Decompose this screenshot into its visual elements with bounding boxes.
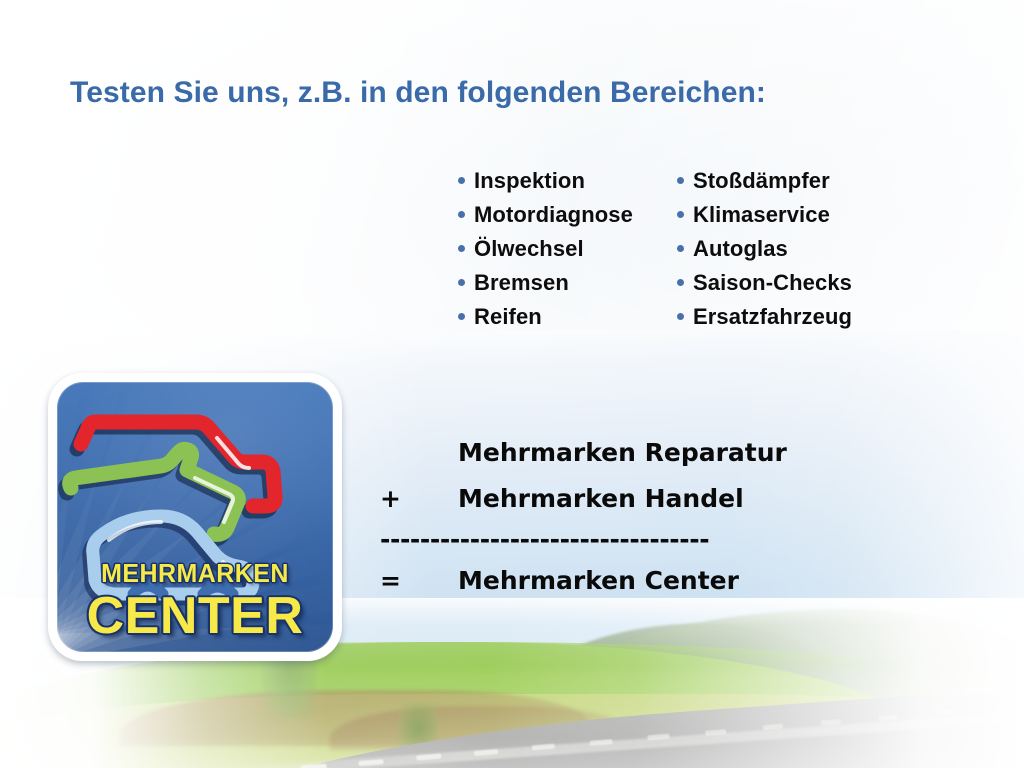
service-item-label: Bremsen: [474, 266, 569, 300]
service-item: Stoßdämpfer: [677, 164, 852, 198]
service-item: Klimaservice: [677, 198, 852, 232]
logo-plate: MEHRMARKEN CENTER: [57, 382, 333, 652]
equation-block: Mehrmarken Reparatur + Mehrmarken Handel…: [380, 430, 890, 604]
service-item-label: Klimaservice: [693, 198, 830, 232]
bullet-dot-icon: [458, 211, 465, 218]
mehrmarken-center-logo: MEHRMARKEN CENTER: [48, 373, 342, 661]
service-item-label: Ersatzfahrzeug: [693, 300, 852, 334]
equation-divider-rule: ---------------------------------: [380, 522, 890, 558]
service-item: Motordiagnose: [458, 198, 633, 232]
equation-row: Mehrmarken Reparatur: [380, 430, 890, 476]
slide-canvas: Testen Sie uns, z.B. in den folgenden Be…: [0, 0, 1024, 768]
logo-wordmark-line1: MEHRMARKEN: [63, 558, 328, 588]
service-item-label: Stoßdämpfer: [693, 164, 830, 198]
service-item-label: Motordiagnose: [474, 198, 633, 232]
services-column-right: StoßdämpferKlimaserviceAutoglasSaison-Ch…: [677, 164, 852, 334]
equation-result-row: = Mehrmarken Center: [380, 558, 890, 604]
service-item: Autoglas: [677, 232, 852, 266]
bullet-dot-icon: [677, 245, 684, 252]
bullet-dot-icon: [458, 245, 465, 252]
equation-term: Mehrmarken Reparatur: [458, 430, 787, 476]
service-item: Saison-Checks: [677, 266, 852, 300]
service-item: Inspektion: [458, 164, 633, 198]
bullet-dot-icon: [458, 313, 465, 320]
bullet-dot-icon: [677, 211, 684, 218]
services-columns: InspektionMotordiagnoseÖlwechselBremsenR…: [458, 164, 852, 334]
equation-operator-equals: =: [380, 558, 458, 604]
service-item: Bremsen: [458, 266, 633, 300]
services-column-left: InspektionMotordiagnoseÖlwechselBremsenR…: [458, 164, 633, 334]
service-item: Reifen: [458, 300, 633, 334]
bullet-dot-icon: [458, 279, 465, 286]
service-item-label: Ölwechsel: [474, 232, 584, 266]
bullet-dot-icon: [677, 177, 684, 184]
bullet-dot-icon: [677, 313, 684, 320]
service-item-label: Inspektion: [474, 164, 585, 198]
service-item: Ölwechsel: [458, 232, 633, 266]
service-item-label: Reifen: [474, 300, 542, 334]
service-item: Ersatzfahrzeug: [677, 300, 852, 334]
logo-wordmark: MEHRMARKEN CENTER: [57, 558, 333, 644]
bullet-dot-icon: [677, 279, 684, 286]
service-item-label: Saison-Checks: [693, 266, 852, 300]
equation-operator-plus: +: [380, 476, 458, 522]
equation-row: + Mehrmarken Handel: [380, 476, 890, 522]
equation-term: Mehrmarken Handel: [458, 476, 744, 522]
bullet-dot-icon: [458, 177, 465, 184]
logo-wordmark-line2: CENTER: [57, 588, 333, 644]
page-title: Testen Sie uns, z.B. in den folgenden Be…: [70, 76, 766, 110]
equation-result-term: Mehrmarken Center: [458, 558, 739, 604]
service-item-label: Autoglas: [693, 232, 788, 266]
